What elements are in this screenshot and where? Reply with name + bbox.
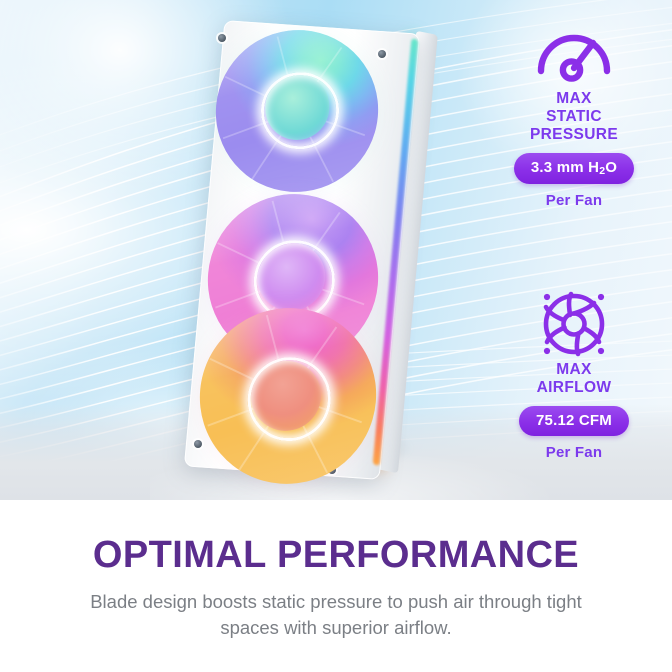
copy-section: OPTIMAL PERFORMANCE Blade design boosts … (0, 500, 672, 672)
fan-top (209, 25, 385, 198)
fan-bottom (193, 302, 384, 490)
spec-note: Per Fan (494, 192, 654, 209)
fan-blades-icon (494, 293, 654, 355)
spec-list: MAX STATIC PRESSURE 3.3 mm H2O Per Fan (494, 22, 654, 461)
spec-note: Per Fan (494, 444, 654, 461)
screw-top-left (218, 34, 226, 42)
page-title: OPTIMAL PERFORMANCE (93, 534, 579, 577)
spec-max-static-pressure: MAX STATIC PRESSURE 3.3 mm H2O Per Fan (494, 22, 654, 209)
spec-value-badge: 3.3 mm H2O (514, 153, 634, 184)
spec-title: MAX STATIC PRESSURE (494, 90, 654, 144)
product-image (178, 8, 478, 494)
marketing-banner: MAX STATIC PRESSURE 3.3 mm H2O Per Fan (0, 0, 672, 672)
spec-max-airflow: MAX AIRFLOW 75.12 CFM Per Fan (494, 293, 654, 461)
spec-title: MAX AIRFLOW (494, 361, 654, 397)
spec-value-tail: O (605, 159, 617, 176)
screw-top-right (378, 50, 386, 58)
pressure-gauge-icon (494, 22, 654, 84)
spec-value-badge: 75.12 CFM (519, 406, 629, 436)
hero-section: MAX STATIC PRESSURE 3.3 mm H2O Per Fan (0, 0, 672, 500)
page-subtitle: Blade design boosts static pressure to p… (66, 589, 606, 640)
spec-value-text: 3.3 mm H (531, 159, 599, 176)
